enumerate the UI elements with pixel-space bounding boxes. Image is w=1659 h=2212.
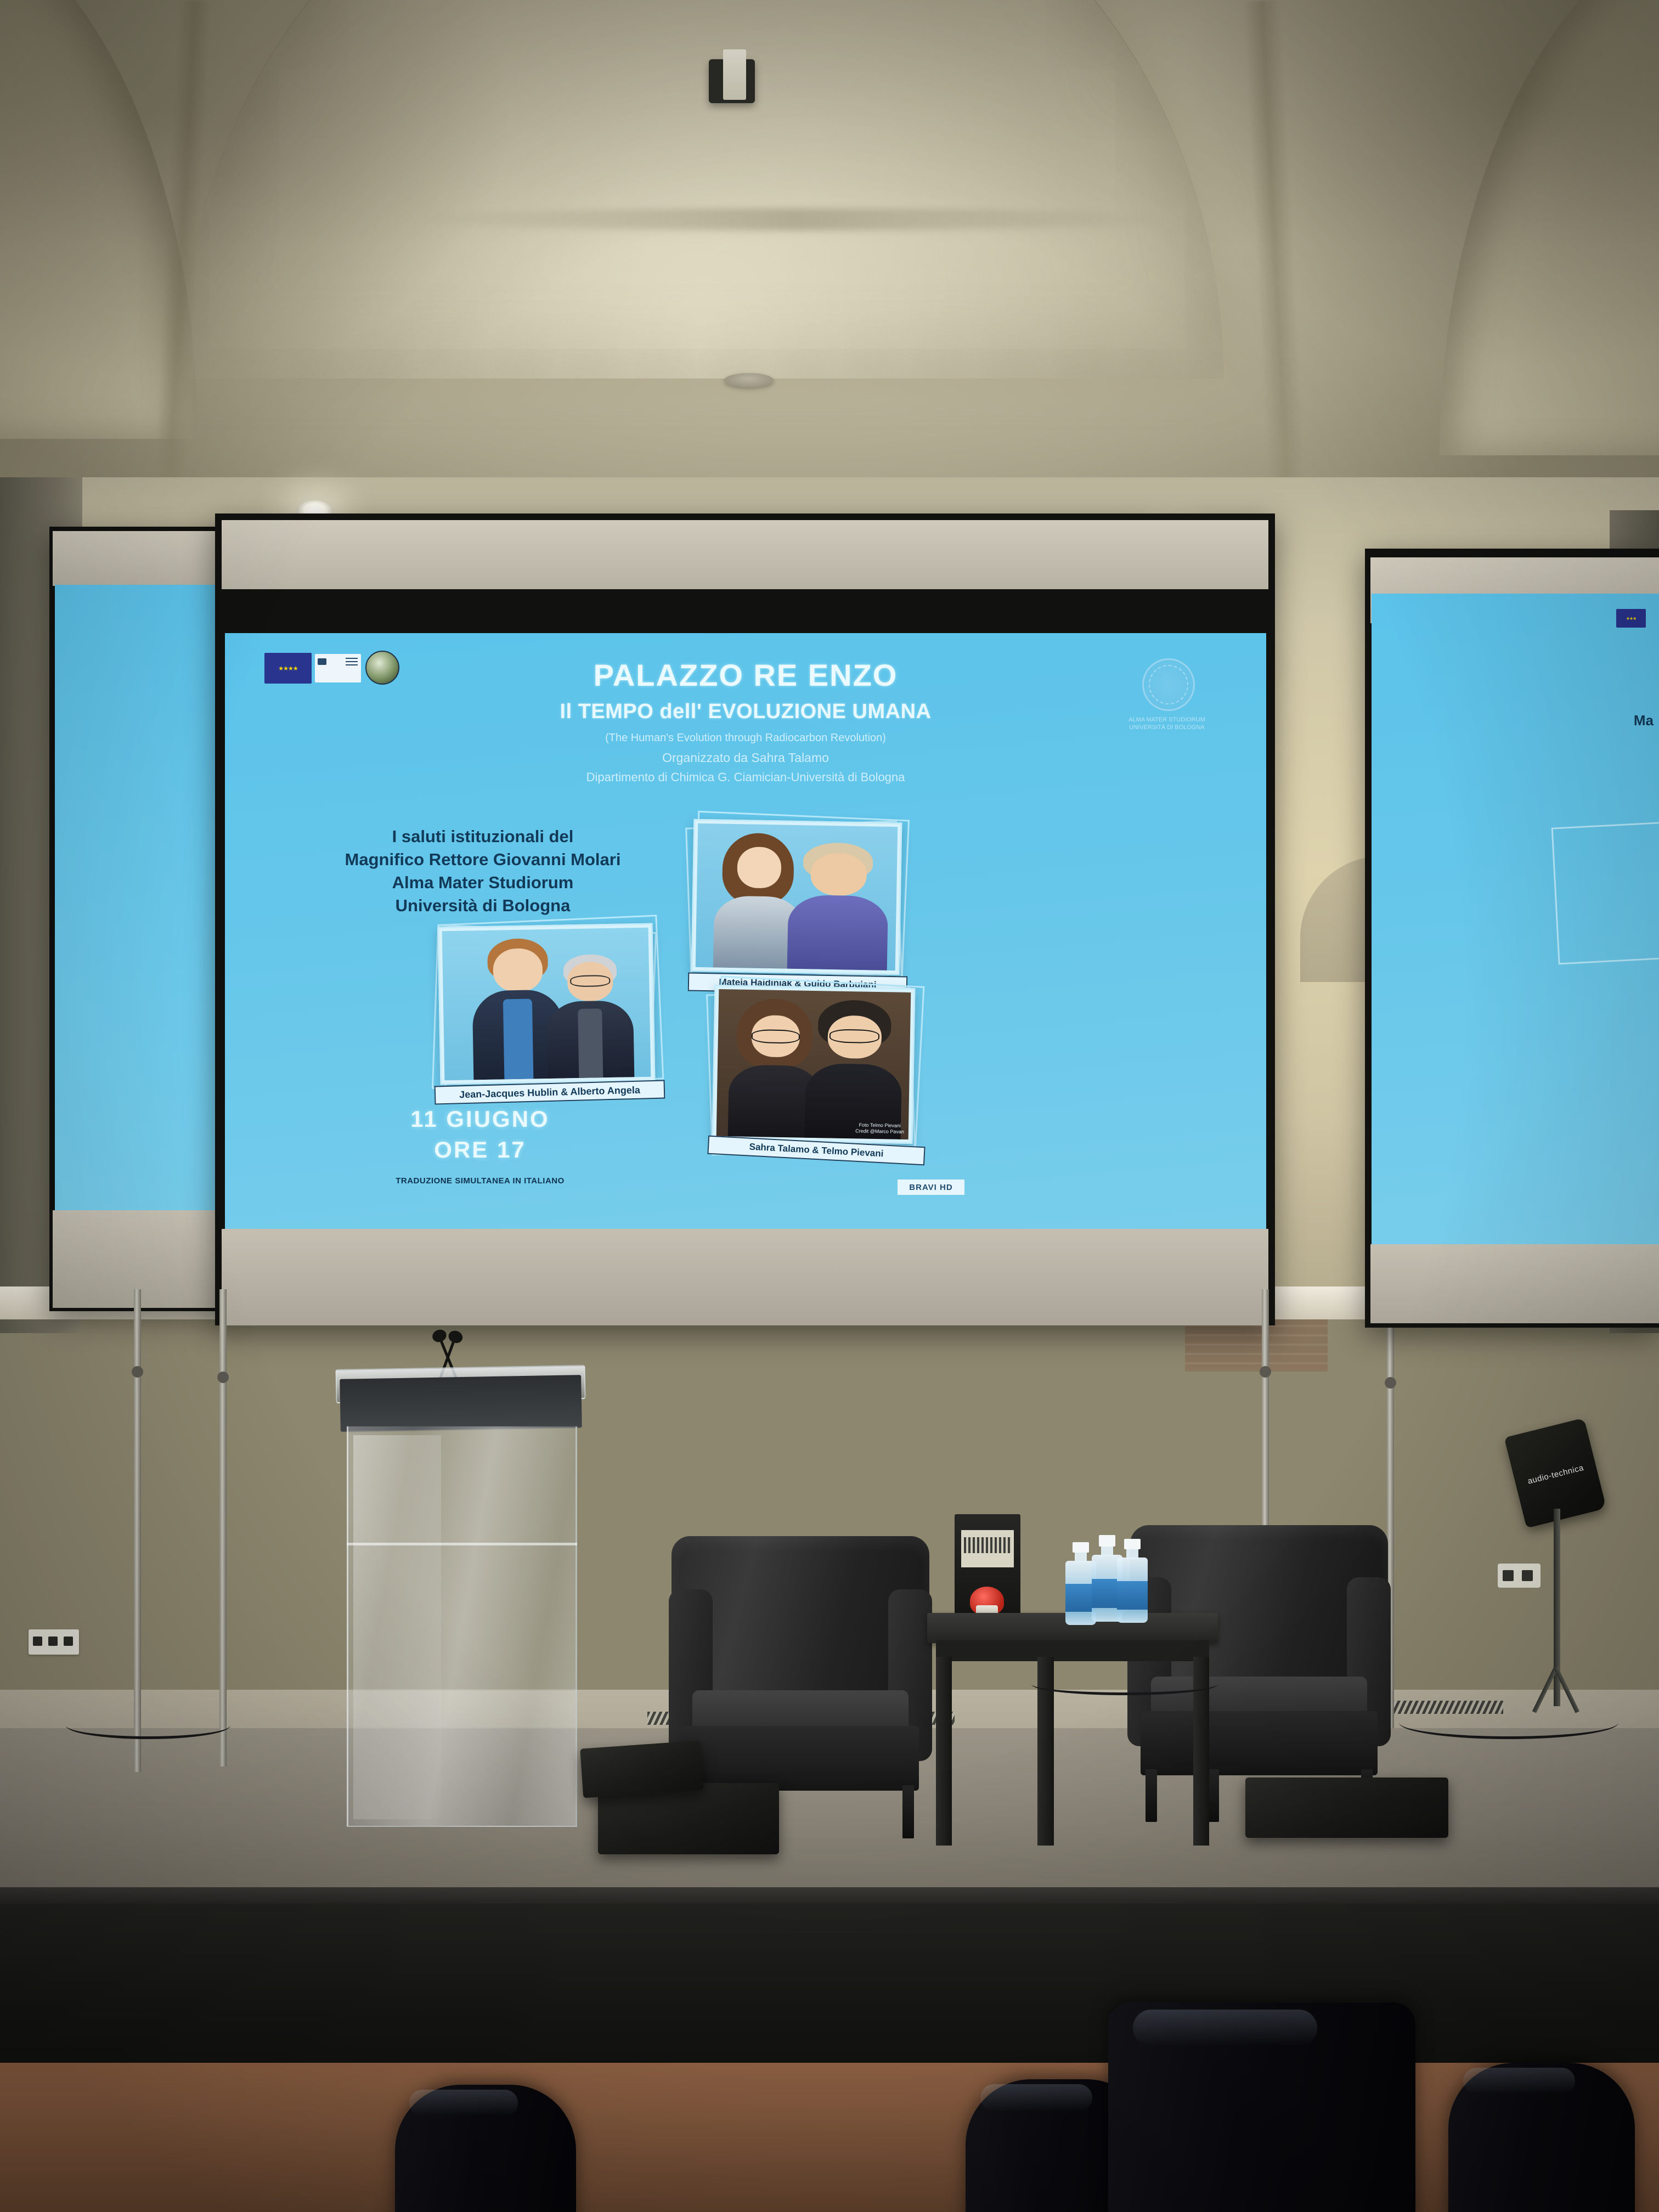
wall-outlet-left[interactable] bbox=[29, 1629, 79, 1655]
presentation-slide: ★★★★ ALMA MATER STUDIORUM UNIVERSITÀ DI … bbox=[225, 633, 1266, 1229]
projection-screen-main-bottom bbox=[222, 1229, 1268, 1325]
ceiling-vent-icon bbox=[724, 373, 774, 387]
audience-chair-1[interactable] bbox=[395, 2085, 576, 2212]
institutional-greeting-block: I saluti istituzionali del Magnifico Ret… bbox=[313, 825, 653, 917]
projection-screen-left-top bbox=[53, 531, 227, 586]
seal-caption-line2: UNIVERSITÀ DI BOLOGNA bbox=[1115, 724, 1219, 732]
stage-case bbox=[580, 1740, 704, 1798]
floor-cable-left bbox=[66, 1712, 230, 1739]
portrait-person-angela bbox=[545, 949, 634, 1079]
floor-cable-right bbox=[1399, 1706, 1618, 1739]
lectern[interactable] bbox=[331, 1328, 589, 1849]
greeting-line-1: I saluti istituzionali del bbox=[313, 825, 653, 848]
screen-pole-left-outer bbox=[134, 1289, 141, 1772]
lectern-glare bbox=[353, 1435, 441, 1819]
side-table[interactable] bbox=[927, 1613, 1218, 1843]
portrait-person-barbujani bbox=[787, 837, 889, 970]
speaker-brand-label: audio-technica bbox=[1527, 1463, 1585, 1486]
ceiling-fixture-icon bbox=[709, 59, 755, 103]
slide-organizer: Organizzato da Sahra Talamo bbox=[225, 751, 1266, 765]
screen-pole-left-inner bbox=[219, 1289, 227, 1767]
portrait-person-pievani bbox=[805, 1000, 903, 1139]
slide-title: PALAZZO RE ENZO bbox=[225, 657, 1266, 693]
projection-screen-main-surface: ★★★★ ALMA MATER STUDIORUM UNIVERSITÀ DI … bbox=[225, 633, 1266, 1229]
photo-credit: Foto Telmo Pievani Credit @Marco Pavan bbox=[855, 1122, 904, 1135]
red-power-plug-icon bbox=[970, 1587, 1004, 1615]
greeting-line-3: Alma Mater Studiorum bbox=[313, 871, 653, 894]
slide-department: Dipartimento di Chimica G. Ciamician-Uni… bbox=[225, 770, 1266, 785]
photo-scene: ★★★★ ALMA MATER STUDIORUM UNIVERSITÀ DI … bbox=[0, 0, 1659, 2212]
presentation-slide-right: ★★★ Ma bbox=[1372, 594, 1659, 1244]
ceiling-shading bbox=[0, 0, 1659, 549]
brand-tag: BRAVI HD bbox=[898, 1180, 964, 1195]
projection-screen-right-surface: ★★★ Ma bbox=[1372, 594, 1659, 1244]
event-time: ORE 17 bbox=[390, 1137, 571, 1163]
slide-subtitle-english: (The Human's Evolution through Radiocarb… bbox=[225, 732, 1266, 744]
water-bottle-3[interactable] bbox=[1117, 1539, 1148, 1623]
speaker-stand: audio-technica bbox=[1503, 1426, 1659, 1712]
floor-cable-center bbox=[1031, 1673, 1218, 1695]
greeting-line-4: Università di Bologna bbox=[313, 894, 653, 917]
translation-note: TRADUZIONE SIMULTANEA IN ITALIANO bbox=[365, 1176, 595, 1186]
photo-credit-line2: Credit @Marco Pavan bbox=[855, 1128, 904, 1135]
event-date: 11 GIUGNO bbox=[390, 1106, 571, 1132]
european-union-flag-logo-right: ★★★ bbox=[1616, 609, 1646, 628]
audience-chair-4[interactable] bbox=[1448, 2063, 1635, 2212]
photo-hajdinjak-barbujani bbox=[691, 819, 902, 975]
audience-chair-3[interactable] bbox=[1108, 2002, 1415, 2212]
photo-talamo-pievani: Foto Telmo Pievani Credit @Marco Pavan bbox=[712, 985, 916, 1144]
projection-screen-left-surface bbox=[55, 585, 225, 1210]
photo-group-hublin-angela: Jean-Jacques Hublin & Alberto Angela bbox=[431, 923, 667, 1109]
lectern-front-panel bbox=[340, 1375, 582, 1432]
greeting-fragment-right: Ma bbox=[1634, 712, 1654, 729]
photo-hublin-angela bbox=[438, 923, 656, 1085]
projection-screen-right-bottom bbox=[1370, 1244, 1659, 1323]
slide-subtitle: Il TEMPO dell' EVOLUZIONE UMANA bbox=[225, 700, 1266, 724]
stage-monitor-right bbox=[1245, 1778, 1448, 1838]
projection-screen-main-top bbox=[222, 520, 1268, 589]
photo-frame-outline-right bbox=[1551, 821, 1659, 965]
greeting-line-2: Magnifico Rettore Giovanni Molari bbox=[313, 848, 653, 871]
vaulted-ceiling bbox=[0, 0, 1659, 549]
photo-group-talamo-pievani: Foto Telmo Pievani Credit @Marco Pavan S… bbox=[708, 984, 938, 1193]
